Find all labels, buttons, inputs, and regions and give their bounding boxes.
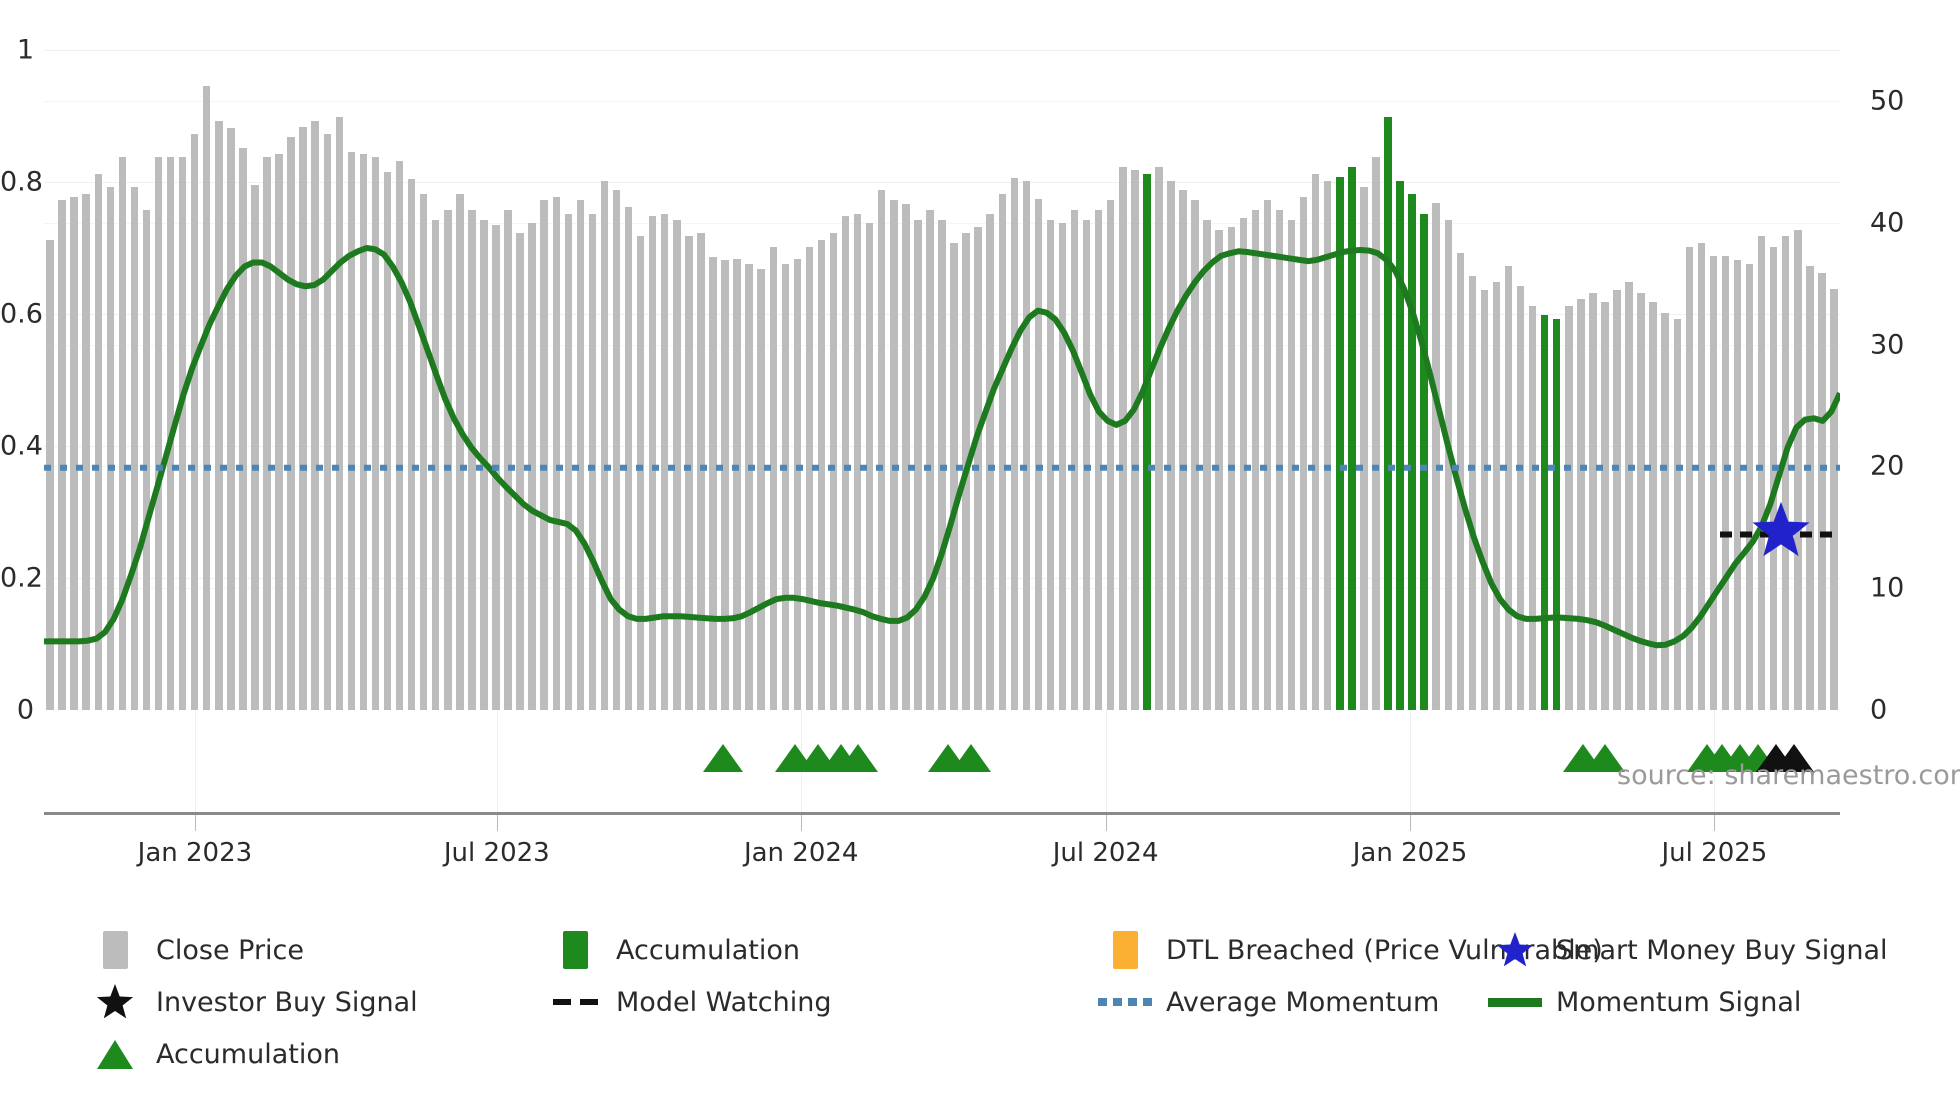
line-glyph [1488, 998, 1542, 1007]
color-swatch [563, 931, 588, 969]
triangle-glyph [97, 1040, 133, 1069]
accumulation-triangle-marker [838, 744, 878, 772]
x-tick-label-2: Jan 2024 [744, 838, 859, 868]
x-axis-line [44, 812, 1840, 815]
solid-line-icon [1486, 998, 1544, 1007]
legend-item-momentum-signal[interactable]: Momentum Signal [1486, 976, 1801, 1028]
triangle-icon [86, 1040, 144, 1069]
swatch-icon [86, 931, 144, 969]
chart-root: 00.20.40.60.81 01020304050 Jan 2023Jul 2… [0, 0, 1960, 1102]
x-tick-mark-2 [801, 815, 802, 831]
x-tick-label-3: Jul 2024 [1053, 838, 1159, 868]
x-gridline-4 [1410, 710, 1411, 812]
legend-label: Close Price [156, 935, 304, 966]
accumulation-triangle-marker [703, 744, 743, 772]
dotted-line-icon [1096, 998, 1154, 1006]
swatch-icon [1096, 931, 1154, 969]
legend-item-accumulation-bar[interactable]: Accumulation [546, 924, 800, 976]
left-axis-tick-4: 0.8 [0, 167, 34, 198]
x-tick-label-1: Jul 2023 [444, 838, 550, 868]
accumulation-triangle-marker [951, 744, 991, 772]
momentum-signal-line [44, 248, 1840, 645]
legend-label: Investor Buy Signal [156, 987, 418, 1018]
x-tick-mark-3 [1106, 815, 1107, 831]
x-tick-label-4: Jan 2025 [1353, 838, 1468, 868]
right-axis-tick-4: 40 [1870, 207, 1904, 238]
dash-glyph [553, 999, 598, 1005]
legend-row-1: Investor Buy SignalModel WatchingAverage… [86, 976, 1886, 1028]
x-tick-mark-0 [195, 815, 196, 831]
left-axis-tick-0: 0 [0, 695, 34, 726]
star-glyph [95, 982, 135, 1022]
legend-label: Momentum Signal [1556, 987, 1801, 1018]
legend-label: Smart Money Buy Signal [1556, 935, 1888, 966]
x-tick-mark-1 [497, 815, 498, 831]
x-tick-label-0: Jan 2023 [138, 838, 253, 868]
legend-item-model-watching[interactable]: Model Watching [546, 976, 831, 1028]
right-axis-tick-2: 20 [1870, 451, 1904, 482]
left-axis-tick-3: 0.6 [0, 299, 34, 330]
legend-item-average-momentum[interactable]: Average Momentum [1096, 976, 1439, 1028]
star-icon [86, 982, 144, 1022]
swatch-icon [546, 931, 604, 969]
left-axis-tick-2: 0.4 [0, 431, 34, 462]
x-tick-mark-4 [1410, 815, 1411, 831]
chart-legend: Close PriceAccumulationDTL Breached (Pri… [86, 924, 1886, 1080]
plot-area [44, 50, 1840, 710]
x-gridline-3 [1106, 710, 1107, 812]
legend-row-0: Close PriceAccumulationDTL Breached (Pri… [86, 924, 1886, 976]
legend-row-2: Accumulation [86, 1028, 1886, 1080]
legend-label: Accumulation [156, 1039, 340, 1070]
left-axis-tick-1: 0.2 [0, 563, 34, 594]
legend-item-accumulation-marker[interactable]: Accumulation [86, 1028, 340, 1080]
right-axis-tick-1: 10 [1870, 573, 1904, 604]
legend-item-investor-buy-signal[interactable]: Investor Buy Signal [86, 976, 418, 1028]
legend-label: Average Momentum [1166, 987, 1439, 1018]
smart-money-buy-signal-star [1753, 502, 1810, 556]
legend-label: Accumulation [616, 935, 800, 966]
left-axis-tick-5: 1 [0, 35, 34, 66]
x-tick-mark-5 [1714, 815, 1715, 831]
source-watermark: source: sharemaestro.com [1617, 760, 1960, 791]
right-axis-tick-0: 0 [1870, 695, 1887, 726]
legend-item-smart-money-buy-signal[interactable]: Smart Money Buy Signal [1486, 924, 1888, 976]
x-tick-label-5: Jul 2025 [1662, 838, 1768, 868]
x-gridline-0 [195, 710, 196, 812]
color-swatch [1113, 931, 1138, 969]
star-icon [1486, 930, 1544, 970]
color-swatch [103, 931, 128, 969]
dots-glyph [1098, 998, 1152, 1006]
legend-label: Model Watching [616, 987, 831, 1018]
right-axis-tick-3: 30 [1870, 329, 1904, 360]
right-axis-tick-5: 50 [1870, 86, 1904, 117]
line-overlay [44, 50, 1840, 710]
dashed-line-icon [546, 999, 604, 1005]
legend-item-close-price[interactable]: Close Price [86, 924, 304, 976]
star-glyph [1495, 930, 1535, 970]
x-gridline-1 [497, 710, 498, 812]
